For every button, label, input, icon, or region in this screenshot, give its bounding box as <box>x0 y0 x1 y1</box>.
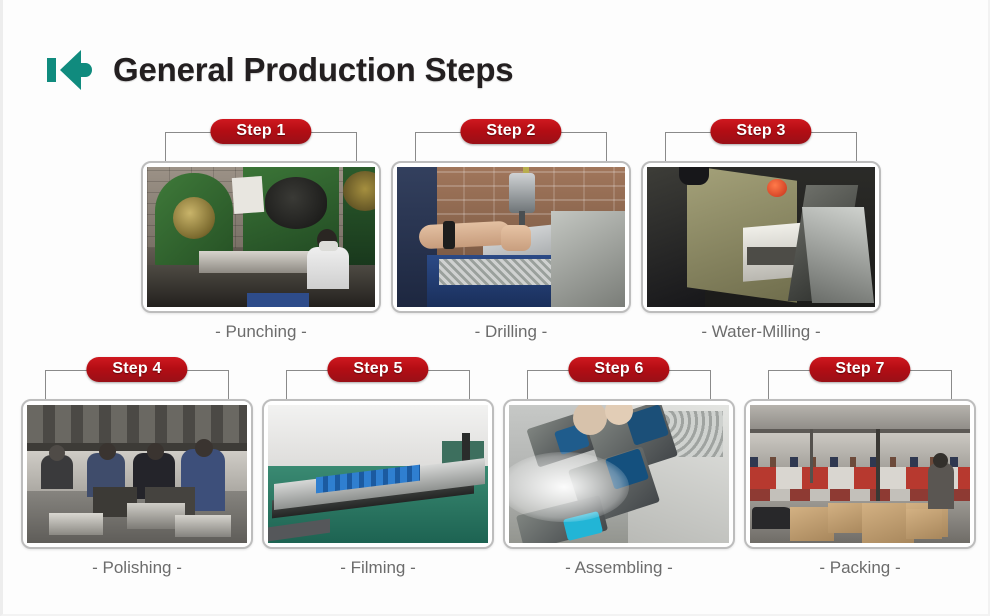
step-badge-wrap-5: Step 5 <box>262 357 494 399</box>
step-card-2[interactable]: Step 2 - Drilling - <box>391 119 631 342</box>
photo-filming <box>268 405 488 543</box>
step-badge-wrap-1: Step 1 <box>141 119 381 161</box>
step-badge-wrap-3: Step 3 <box>641 119 881 161</box>
photo-assembling <box>509 405 729 543</box>
photo-polishing <box>27 405 247 543</box>
step-card-4[interactable]: Step 4 - Polishing - <box>21 357 253 578</box>
photo-frame-6 <box>503 399 735 549</box>
steps-row-1: Step 1 - Punching - Step 2 <box>141 119 881 342</box>
step-card-6[interactable]: Step 6 - Assembling - <box>503 357 735 578</box>
steps-row-2: Step 4 - Polishing - Step 5 <box>21 357 976 578</box>
photo-frame-5 <box>262 399 494 549</box>
step-badge-1: Step 1 <box>210 119 311 144</box>
step-card-7[interactable]: Step 7 - Packing - <box>744 357 976 578</box>
photo-punching <box>147 167 375 307</box>
step-caption-4: - Polishing - <box>21 558 253 578</box>
step-caption-2: - Drilling - <box>391 322 631 342</box>
slide-canvas: General Production Steps Step 1 <box>0 0 990 616</box>
photo-frame-1 <box>141 161 381 313</box>
page-header: General Production Steps <box>47 44 513 96</box>
step-badge-wrap-2: Step 2 <box>391 119 631 161</box>
photo-packing <box>750 405 970 543</box>
step-caption-7: - Packing - <box>744 558 976 578</box>
step-card-5[interactable]: Step 5 - Filming - <box>262 357 494 578</box>
step-caption-1: - Punching - <box>141 322 381 342</box>
photo-drilling <box>397 167 625 307</box>
speaker-megaphone-icon <box>47 50 93 90</box>
page-title: General Production Steps <box>113 51 513 89</box>
step-caption-5: - Filming - <box>262 558 494 578</box>
step-card-3[interactable]: Step 3 - Water-Milling - <box>641 119 881 342</box>
step-badge-6: Step 6 <box>568 357 669 382</box>
step-badge-2: Step 2 <box>460 119 561 144</box>
step-badge-4: Step 4 <box>86 357 187 382</box>
photo-frame-2 <box>391 161 631 313</box>
step-badge-wrap-4: Step 4 <box>21 357 253 399</box>
step-badge-7: Step 7 <box>809 357 910 382</box>
photo-water-milling <box>647 167 875 307</box>
photo-frame-3 <box>641 161 881 313</box>
photo-frame-7 <box>744 399 976 549</box>
step-badge-3: Step 3 <box>710 119 811 144</box>
step-badge-wrap-7: Step 7 <box>744 357 976 399</box>
step-caption-6: - Assembling - <box>503 558 735 578</box>
step-card-1[interactable]: Step 1 - Punching - <box>141 119 381 342</box>
photo-frame-4 <box>21 399 253 549</box>
step-badge-wrap-6: Step 6 <box>503 357 735 399</box>
step-caption-3: - Water-Milling - <box>641 322 881 342</box>
step-badge-5: Step 5 <box>327 357 428 382</box>
